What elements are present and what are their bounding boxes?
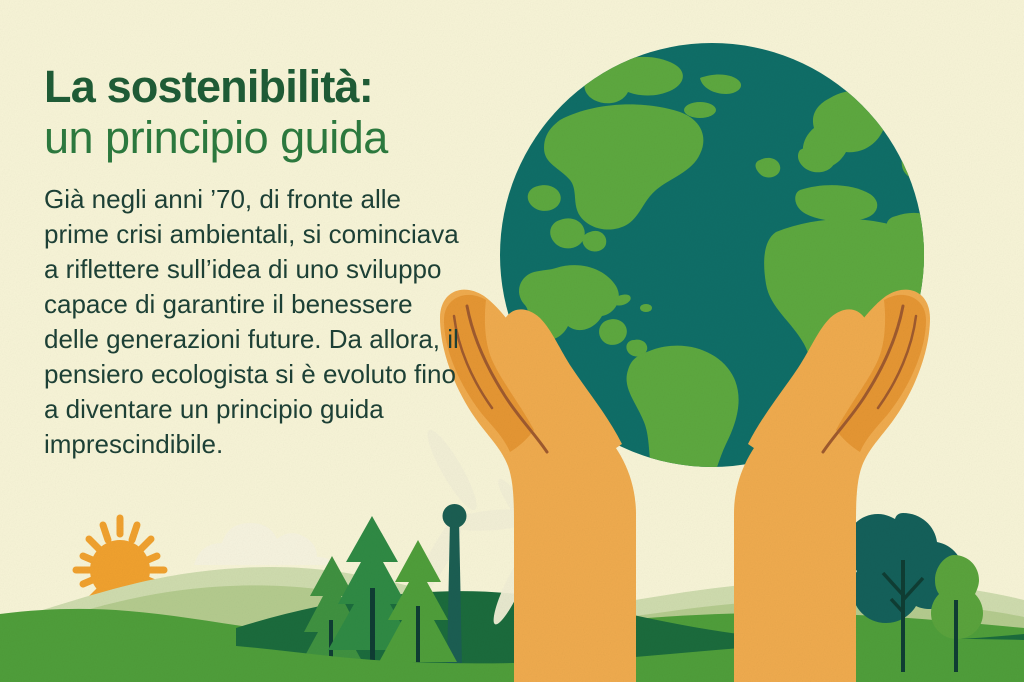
sustainability-poster: La sostenibilità: un principio guida Già… bbox=[0, 0, 1024, 682]
turbine-hub-icon bbox=[443, 504, 467, 528]
tree-trunk bbox=[954, 600, 958, 672]
page-title-line-2: un principio guida bbox=[44, 112, 514, 164]
tree-trunk bbox=[901, 560, 905, 672]
text-column: La sostenibilità: un principio guida Già… bbox=[44, 62, 514, 462]
body-paragraph: Già negli anni ’70, di fronte alle prime… bbox=[44, 182, 464, 462]
page-title-line-1: La sostenibilità: bbox=[44, 62, 514, 112]
